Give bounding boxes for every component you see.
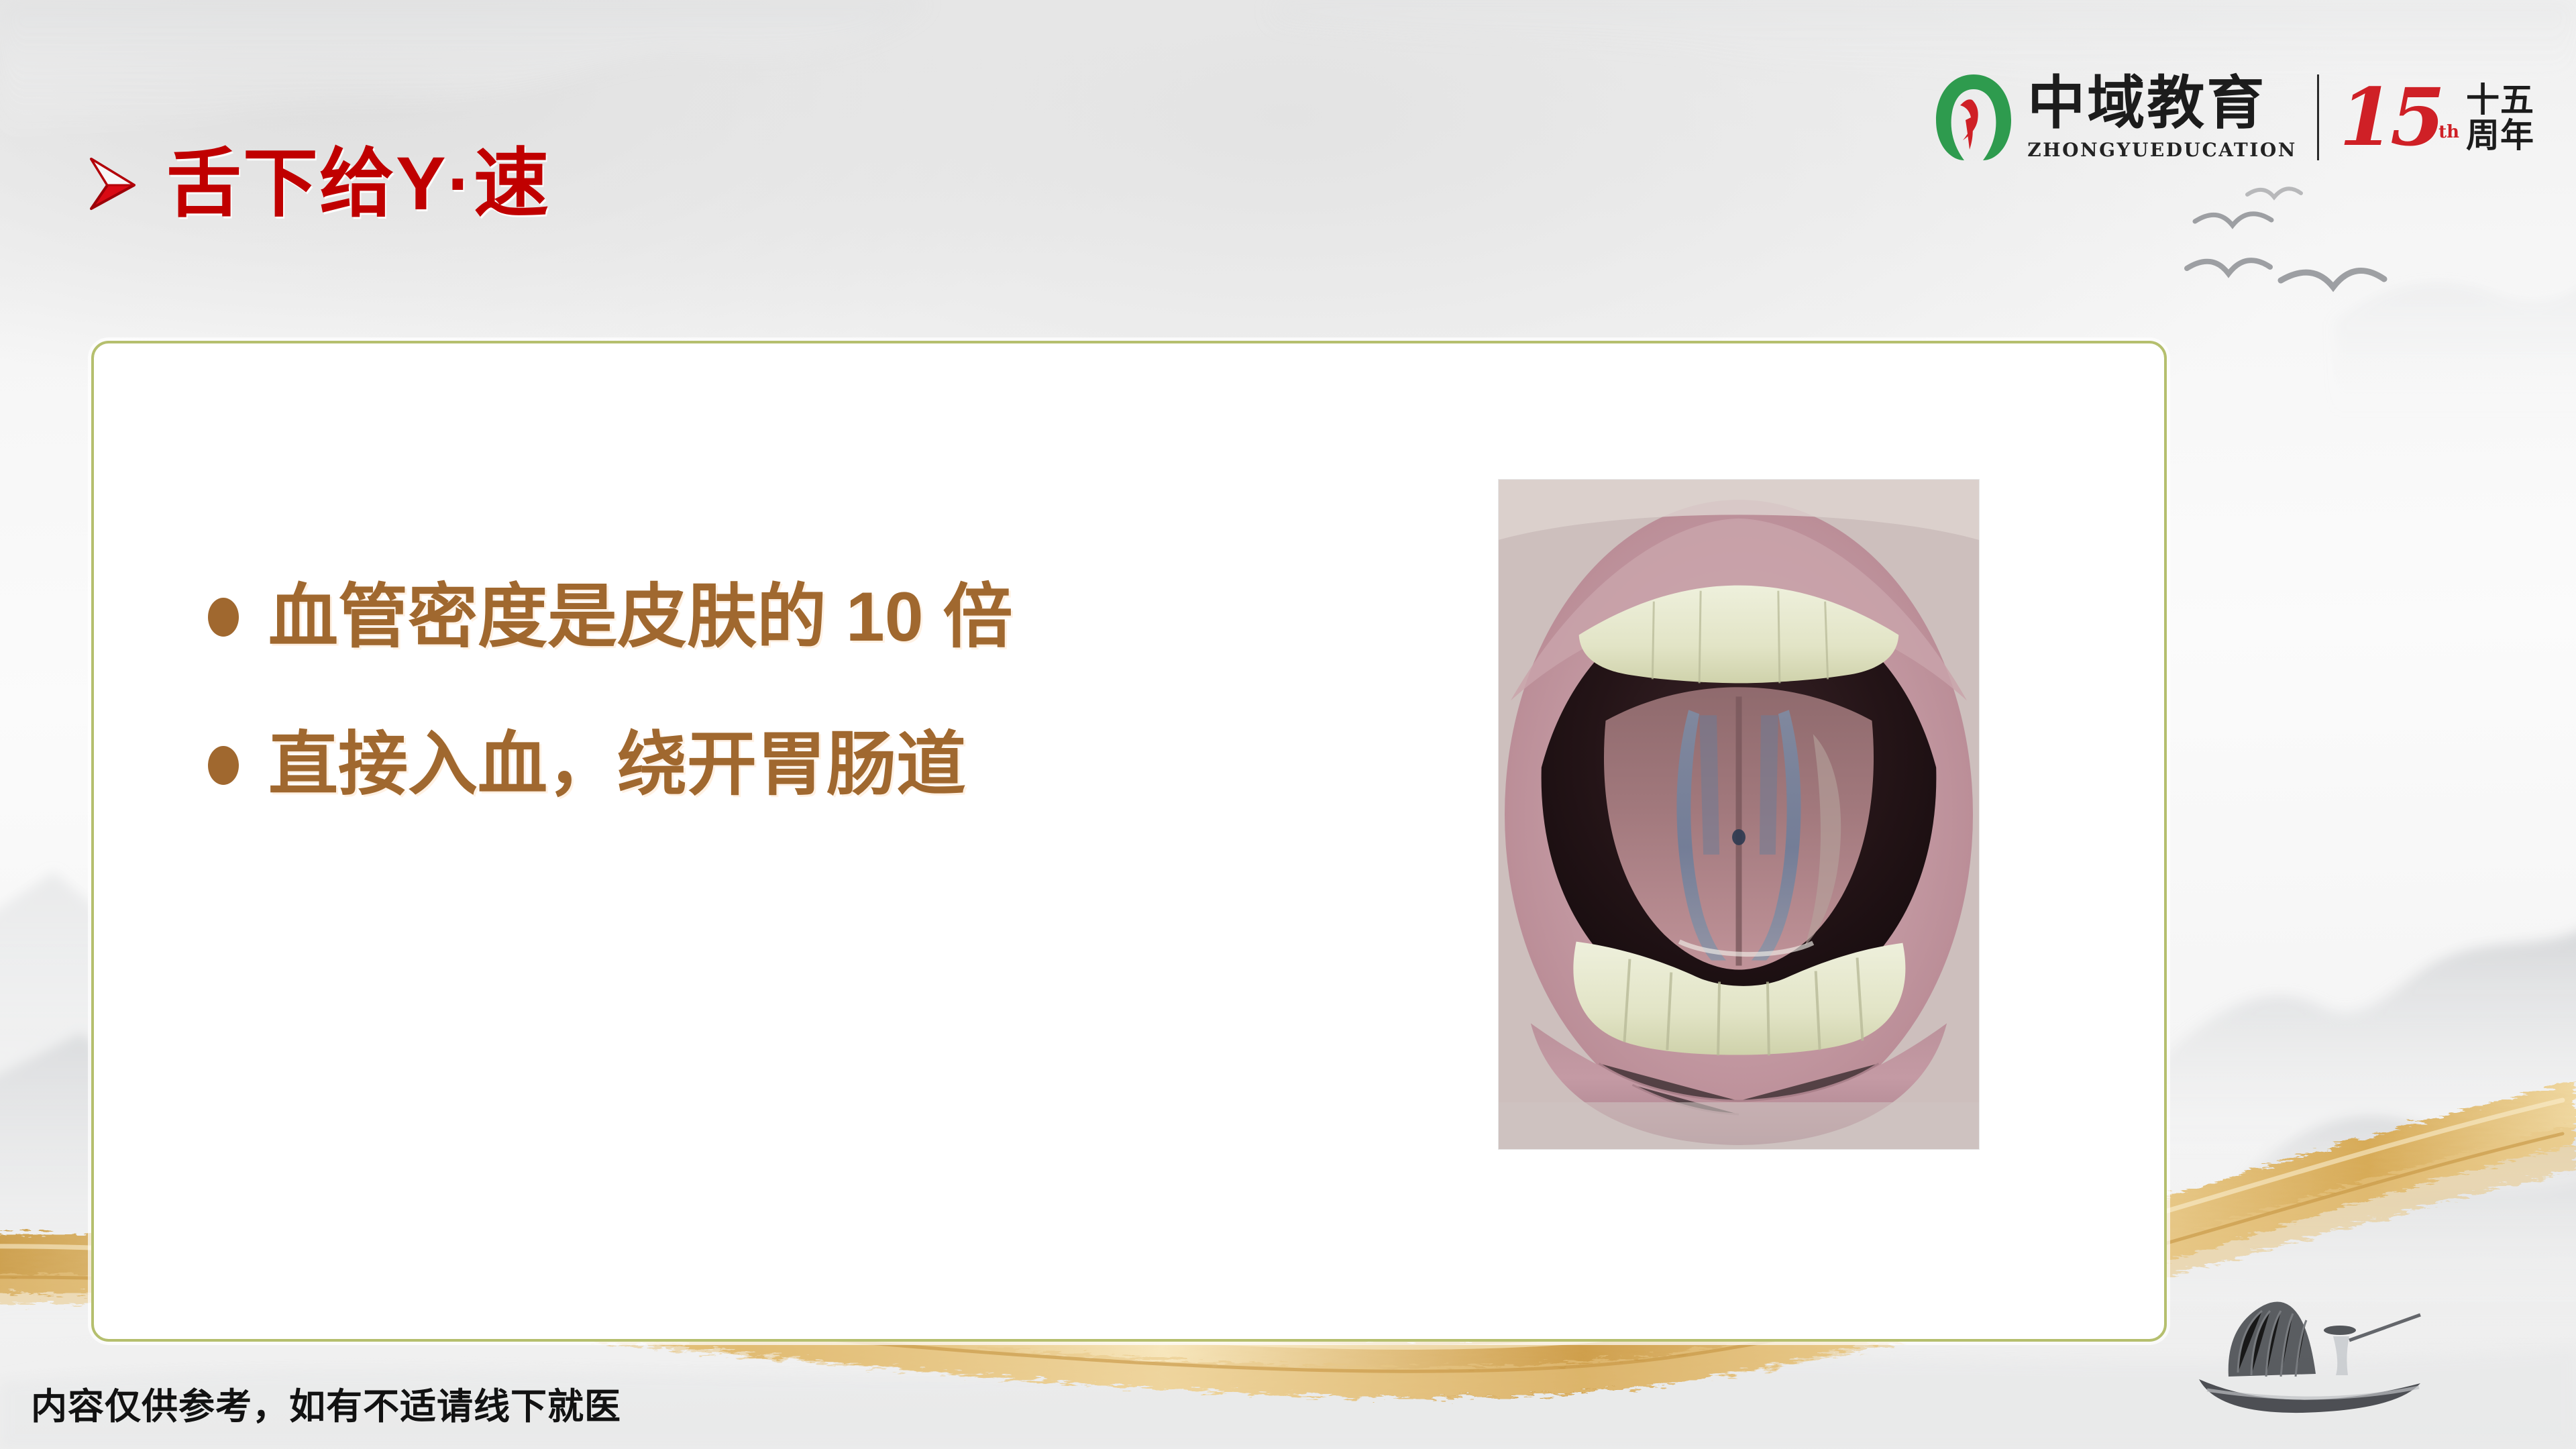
brand-name-en: ZHONGYUEDUCATION (2027, 139, 2297, 161)
arrow-bullet-icon (87, 155, 137, 213)
content-card: 血管密度是皮肤的 10 倍 直接入血，绕开胃肠道 (91, 341, 2167, 1342)
anniversary-label-line2: 周年 (2466, 117, 2534, 153)
anniversary-number: 15 (2339, 83, 2441, 152)
brand-name-cn: 中域教育 (2027, 74, 2297, 132)
slide-canvas: 舌下给Y·速 中域教育 ZHONGYUEDUCATION 15 th 十五 周年 (0, 0, 2576, 1449)
sublingual-mouth-photo (1498, 479, 1980, 1150)
bullet-text: 血管密度是皮肤的 10 倍 (268, 578, 1012, 656)
anniversary-label: 十五 周年 (2466, 82, 2534, 153)
bullet-text: 直接入血，绕开胃肠道 (268, 726, 966, 804)
disclaimer-text: 内容仅供参考，如有不适请线下就医 (31, 1377, 621, 1430)
anniversary-badge: 15 th 十五 周年 (2339, 82, 2534, 153)
ink-birds (2187, 189, 2384, 287)
logo-wordmark: 中域教育 ZHONGYUEDUCATION (2027, 74, 2297, 161)
list-item: 血管密度是皮肤的 10 倍 (208, 578, 1012, 656)
page-title: 舌下给Y·速 (166, 146, 550, 221)
logo-divider (2317, 74, 2319, 160)
zhongyu-bird-logo-icon (1931, 70, 2017, 164)
bullet-dot-icon (208, 598, 239, 637)
anniversary-suffix: th (2438, 122, 2459, 142)
bullet-dot-icon (208, 746, 239, 785)
list-item: 直接入血，绕开胃肠道 (208, 726, 1012, 804)
brand-logo: 中域教育 ZHONGYUEDUCATION 15 th 十五 周年 (1931, 67, 2534, 168)
slide-header: 舌下给Y·速 (87, 146, 550, 221)
anniversary-label-line1: 十五 (2466, 82, 2534, 117)
bullet-list: 血管密度是皮肤的 10 倍 直接入血，绕开胃肠道 (208, 578, 1012, 874)
